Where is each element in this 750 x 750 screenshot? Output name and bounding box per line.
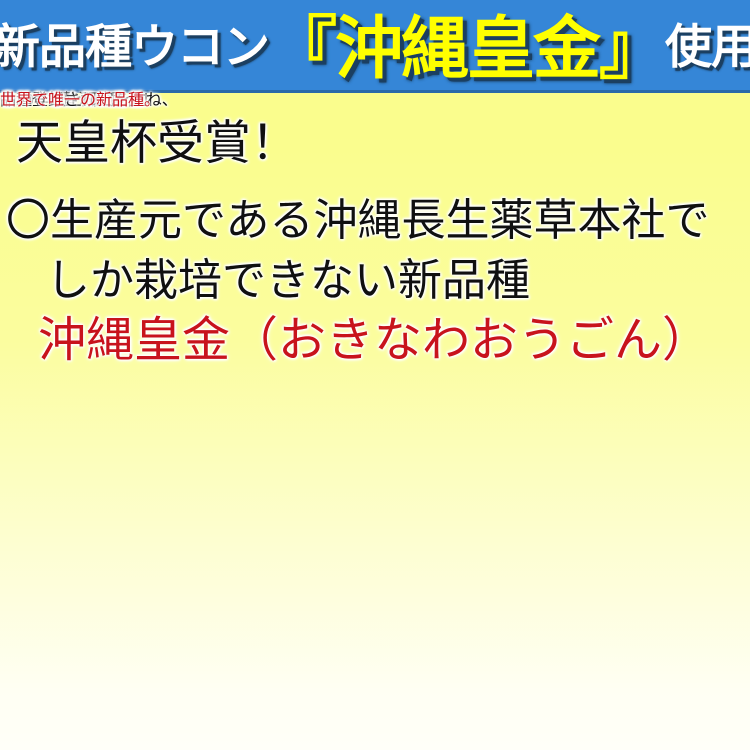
header-band: 新品種ウコン『沖縄皇金』使用 [0,0,750,93]
bullet1-line2: しか栽培できない新品種 [46,259,530,303]
body-copy: 天皇杯受賞！ 〇生産元である沖縄長生薬草本社で しか栽培できない新品種 沖縄皇金… [0,93,750,750]
promo-banner: 新品種ウコン『沖縄皇金』使用 天皇杯受賞！ 〇生産元である沖縄長生薬草本社で し… [0,0,750,750]
bullet1-variety-name: 沖縄皇金（おきなわおうごん） [38,317,710,365]
award-headline: 天皇杯受賞！ [16,119,298,166]
header-suffix-text: 使用 [665,23,750,70]
header-prefix-text: 新品種ウコン [0,23,269,70]
header-highlight-text: 『沖縄皇金』 [269,15,665,83]
header-headline: 新品種ウコン『沖縄皇金』使用 [0,0,750,93]
bullet2-world-first: 世界で唯一の新品種。 [0,93,160,109]
bullet1-line1: 〇生産元である沖縄長生薬草本社で [6,199,710,243]
